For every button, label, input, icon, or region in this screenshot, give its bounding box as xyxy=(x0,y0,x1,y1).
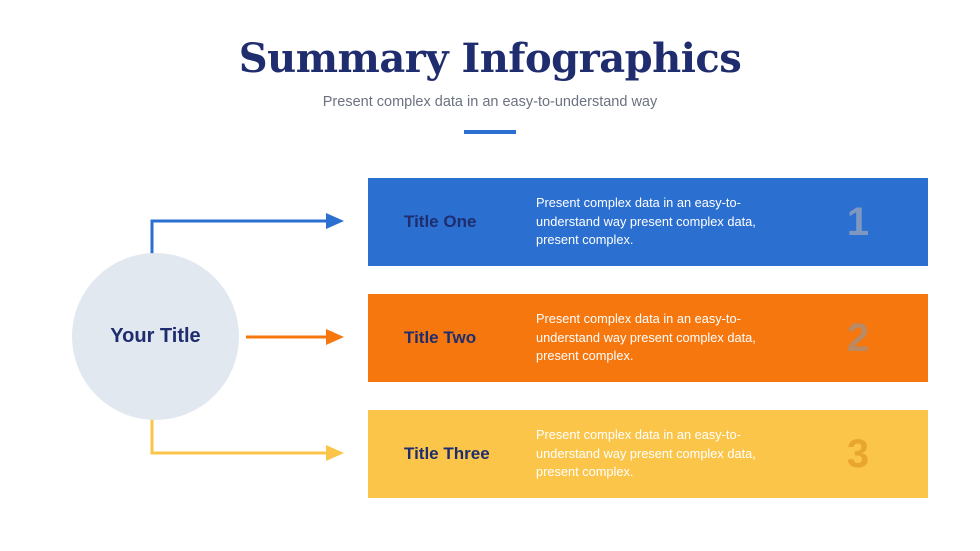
row-2-number: 2 xyxy=(788,316,928,361)
content-row-1[interactable]: Title One Present complex data in an eas… xyxy=(368,178,928,266)
slide-header: Summary Infographics Present complex dat… xyxy=(0,36,980,110)
row-1-number: 1 xyxy=(788,200,928,245)
row-1-title: Title One xyxy=(368,212,536,232)
row-3-description: Present complex data in an easy-to-under… xyxy=(536,426,788,482)
content-row-2[interactable]: Title Two Present complex data in an eas… xyxy=(368,294,928,382)
row-3-number: 3 xyxy=(788,432,928,477)
slide-canvas: Summary Infographics Present complex dat… xyxy=(0,0,980,551)
center-circle: Your Title xyxy=(72,253,239,420)
title-underline-divider xyxy=(464,130,516,134)
row-3-title: Title Three xyxy=(368,444,536,464)
page-title: Summary Infographics xyxy=(0,36,980,82)
row-1-description: Present complex data in an easy-to-under… xyxy=(536,194,788,250)
page-subtitle: Present complex data in an easy-to-under… xyxy=(0,94,980,110)
row-2-title: Title Two xyxy=(368,328,536,348)
content-row-3[interactable]: Title Three Present complex data in an e… xyxy=(368,410,928,498)
row-2-description: Present complex data in an easy-to-under… xyxy=(536,310,788,366)
center-circle-label: Your Title xyxy=(110,325,200,348)
